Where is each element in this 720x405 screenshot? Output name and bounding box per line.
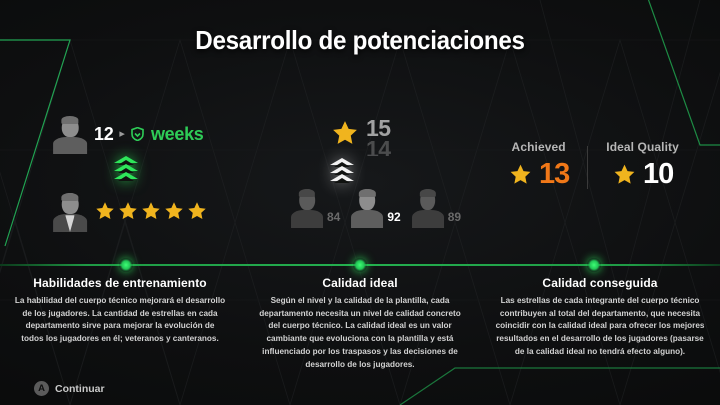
section-divider (0, 258, 720, 272)
player-avatar (290, 186, 324, 228)
star-icon (508, 162, 533, 187)
stat-ideal-quality: Ideal Quality 10 (588, 140, 697, 191)
weeks-row: 12 ▸ weeks (52, 114, 204, 154)
chevron-right-icon: ▸ (119, 129, 125, 140)
triple-chevron-up-green-icon (114, 156, 138, 179)
weeks-value: 12 (94, 124, 113, 145)
star-icon (186, 200, 208, 222)
section-title: Calidad conseguida (494, 276, 706, 290)
stat-achieved-number: 13 (539, 158, 569, 191)
stat-ideal-value: 10 (606, 158, 679, 191)
star-icon (117, 200, 139, 222)
star-icon (94, 200, 116, 222)
coach-star-row (52, 190, 208, 232)
squad-player: 89 (411, 186, 461, 228)
player-rating: 84 (327, 210, 340, 228)
stat-achieved: Achieved 13 (490, 140, 587, 191)
player-rating: 89 (448, 210, 461, 228)
ideal-value-previous: 14 (366, 136, 400, 156)
star-icon (140, 200, 162, 222)
triple-chevron-up-white-icon (330, 158, 354, 181)
section-node-3 (587, 258, 601, 272)
weeks-label: weeks (151, 124, 204, 145)
section-ideal-quality: Calidad ideal Según el nivel y la calida… (240, 276, 480, 371)
coach-avatar (52, 190, 88, 232)
ideal-star-row: 15 14 (330, 118, 400, 156)
section-body: Según el nivel y la calidad de la planti… (254, 295, 466, 371)
stat-ideal-label: Ideal Quality (606, 140, 679, 154)
section-title: Calidad ideal (254, 276, 466, 290)
button-a-icon: A (34, 381, 49, 396)
coach-star-rating (94, 200, 208, 222)
continue-button[interactable]: A Continuar (34, 381, 105, 396)
squad-player: 84 (290, 186, 340, 228)
player-rating: 92 (387, 210, 400, 228)
section-title: Habilidades de entrenamiento (14, 276, 226, 290)
star-icon (163, 200, 185, 222)
star-icon (330, 118, 360, 148)
section-achieved-quality: Calidad conseguida Las estrellas de cada… (480, 276, 720, 371)
illustration-band: 12 ▸ weeks (0, 108, 720, 248)
player-avatar (52, 114, 88, 154)
screen-root: Desarrollo de potenciaciones 12 ▸ weeks (0, 0, 720, 405)
stat-achieved-value: 13 (508, 158, 569, 191)
player-avatar (350, 186, 384, 228)
section-columns: Habilidades de entrenamiento La habilida… (0, 276, 720, 371)
section-node-2 (353, 258, 367, 272)
quality-stats: Achieved 13 Ideal Quality 10 (490, 140, 697, 191)
stat-ideal-number: 10 (643, 158, 673, 191)
continue-label: Continuar (55, 383, 105, 395)
section-training-skills: Habilidades de entrenamiento La habilida… (0, 276, 240, 371)
ideal-value-rolling: 15 14 (366, 118, 400, 156)
ideal-quality-illustration: 15 14 84 92 (290, 108, 470, 248)
stat-achieved-label: Achieved (508, 140, 569, 154)
growth-shield-icon (131, 127, 144, 141)
squad-player: 92 (350, 186, 400, 228)
section-node-1 (119, 258, 133, 272)
star-icon (612, 162, 637, 187)
section-body: Las estrellas de cada integrante del cue… (494, 295, 706, 359)
footer-bar: A Continuar (0, 377, 720, 405)
player-avatar (411, 186, 445, 228)
section-body: La habilidad del cuerpo técnico mejorará… (14, 295, 226, 346)
page-title: Desarrollo de potenciaciones (25, 25, 695, 56)
squad-avatars-row: 84 92 89 (290, 186, 461, 228)
training-skills-illustration: 12 ▸ weeks (52, 108, 282, 248)
